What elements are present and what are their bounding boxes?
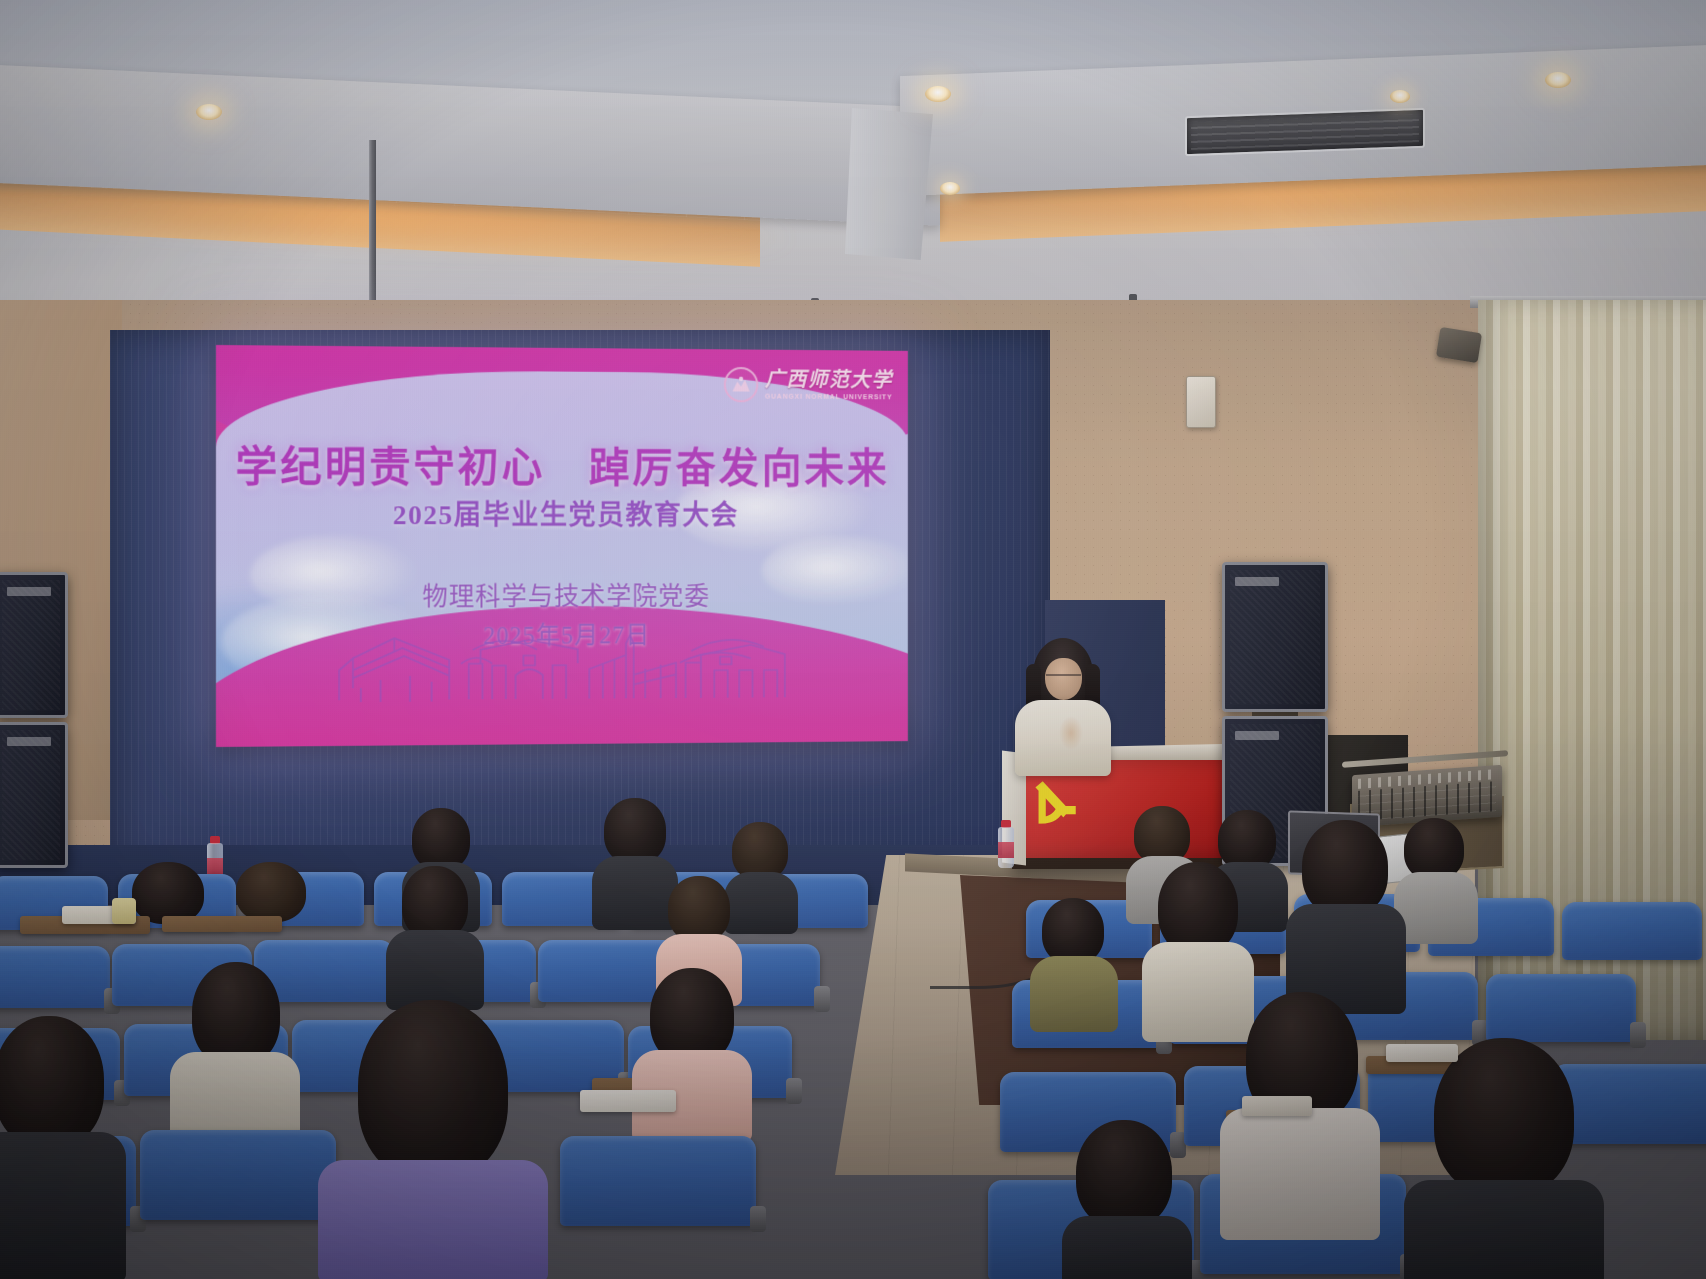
notebook bbox=[580, 1090, 676, 1112]
water-bottle bbox=[998, 820, 1014, 868]
loudspeaker-cabinet bbox=[1222, 562, 1328, 712]
seat[interactable] bbox=[1486, 974, 1636, 1042]
audience-member bbox=[386, 866, 484, 1006]
notebook bbox=[1242, 1096, 1312, 1116]
downlight-icon bbox=[196, 104, 222, 120]
university-name-en: GUANGXI NORMAL UNIVERSITY bbox=[765, 393, 893, 401]
audience-member bbox=[132, 862, 204, 924]
cup bbox=[112, 898, 136, 924]
presenter bbox=[1015, 638, 1111, 770]
air-vent-icon bbox=[1185, 108, 1425, 156]
university-name-cn: 广西师范大学 bbox=[765, 370, 893, 391]
presenter-shirt bbox=[1015, 700, 1111, 776]
slide-title: 学纪明责守初心 踔厉奋发向未来 bbox=[216, 433, 908, 496]
audience-member bbox=[1062, 1120, 1192, 1279]
loudspeaker-cabinet bbox=[0, 722, 68, 868]
fold-out-desk bbox=[162, 916, 282, 932]
audience-member bbox=[318, 1000, 548, 1279]
university-seal-icon bbox=[724, 367, 758, 402]
wall-speaker-icon bbox=[1436, 327, 1482, 363]
university-logo: 广西师范大学 GUANGXI NORMAL UNIVERSITY bbox=[724, 367, 893, 403]
bottle-label bbox=[207, 858, 223, 874]
audience-member bbox=[236, 862, 306, 922]
audience-member bbox=[0, 1016, 126, 1279]
downlight-icon bbox=[925, 86, 951, 102]
projection-screen: 广西师范大学 GUANGXI NORMAL UNIVERSITY 学纪明责守初心… bbox=[216, 345, 908, 747]
audience-member bbox=[1030, 898, 1118, 1028]
downlight-icon bbox=[940, 182, 960, 195]
seat[interactable] bbox=[1562, 902, 1702, 960]
downlight-icon bbox=[1390, 90, 1410, 103]
audience-member bbox=[632, 968, 752, 1138]
audience-member bbox=[1404, 1038, 1604, 1279]
downlight-icon bbox=[1545, 72, 1571, 88]
paper-sheet bbox=[1386, 1044, 1458, 1062]
slide-subtitle: 2025届毕业生党员教育大会 bbox=[216, 493, 908, 533]
bottle-label bbox=[998, 842, 1014, 858]
ceiling-pilaster bbox=[845, 108, 933, 260]
audience-member bbox=[1286, 820, 1406, 1010]
audience-member bbox=[1394, 818, 1478, 942]
seat[interactable] bbox=[0, 946, 110, 1008]
seat[interactable] bbox=[560, 1136, 756, 1226]
wall-control-panel[interactable] bbox=[1186, 376, 1216, 428]
slide-organizer: 物理科学与技术学院党委 bbox=[216, 576, 908, 614]
seat[interactable] bbox=[140, 1130, 336, 1220]
speaker-stack-left bbox=[0, 572, 90, 882]
audience-member bbox=[170, 962, 300, 1142]
loudspeaker-cabinet bbox=[0, 572, 68, 718]
hammer-and-sickle-icon bbox=[1022, 775, 1084, 837]
auditorium-photo: 广西师范大学 GUANGXI NORMAL UNIVERSITY 学纪明责守初心… bbox=[0, 0, 1706, 1279]
presenter-glasses-icon bbox=[1046, 674, 1081, 682]
campus-skyline-line-art bbox=[333, 629, 788, 702]
